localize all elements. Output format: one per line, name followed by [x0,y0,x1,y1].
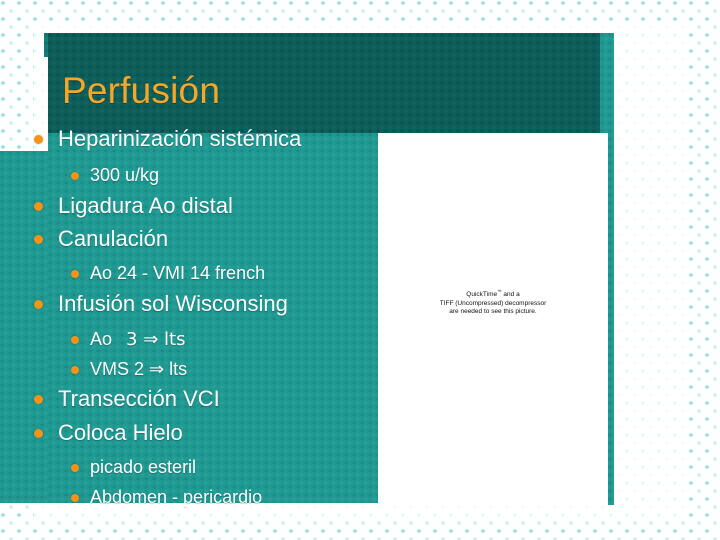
bullet-text: Ligadura Ao distal [58,193,233,219]
bullet-text: VMS 2 ⇒ lts [90,358,187,380]
bullet-dot-icon [34,235,43,244]
bullet-item-level1: Transección VCI [0,386,220,412]
bullet-dot-icon [34,202,43,211]
bullet-item-level1: Heparinización sistémica [0,126,301,152]
bullet-text: Ao 24 - VMI 14 french [90,262,265,284]
bullet-item-level2: Ao3 ⇒ lts [0,328,185,351]
bullet-item-level1: Ligadura Ao distal [0,193,233,219]
page-title: Perfusión [62,70,220,112]
bullet-item-level1: Coloca Hielo [0,420,183,446]
bullet-item-level2: Abdomen - pericardio [0,486,262,508]
bullet-item-level2: Ao 24 - VMI 14 french [0,262,265,284]
bullet-dot-icon [34,429,43,438]
bullet-text: 300 u/kg [90,164,159,186]
bullet-dot-icon [71,464,79,472]
bullet-dot-icon [71,270,79,278]
bullet-dot-icon [71,494,79,502]
bullet-item-level1: Infusión sol Wisconsing [0,291,288,317]
bullet-text: Abdomen - pericardio [90,486,262,508]
bullet-item-level2: 300 u/kg [0,164,159,186]
bullet-dot-icon [71,336,79,344]
bullet-dot-icon [71,172,79,180]
bullet-text: Ao3 ⇒ lts [90,328,185,351]
bullet-text: Transección VCI [58,386,220,412]
bullet-text: Infusión sol Wisconsing [58,291,288,317]
bullet-text-continued: 3 ⇒ lts [126,329,185,350]
bullet-dot-icon [34,300,43,309]
bullet-dot-icon [71,366,79,374]
bullet-dot-icon [34,135,43,144]
bullet-item-level2: VMS 2 ⇒ lts [0,358,187,380]
bullet-item-level2: picado esteril [0,456,196,478]
bullet-text: Coloca Hielo [58,420,183,446]
bullet-list: Heparinización sistémica300 u/kgLigadura… [0,118,720,518]
bullet-item-level1: Canulación [0,226,168,252]
bullet-text: Heparinización sistémica [58,126,301,152]
bullet-text: picado esteril [90,456,196,478]
bullet-text: Canulación [58,226,168,252]
slide: Perfusión QuickTime™ and a TIFF (Uncompr… [0,0,720,540]
bullet-dot-icon [34,395,43,404]
